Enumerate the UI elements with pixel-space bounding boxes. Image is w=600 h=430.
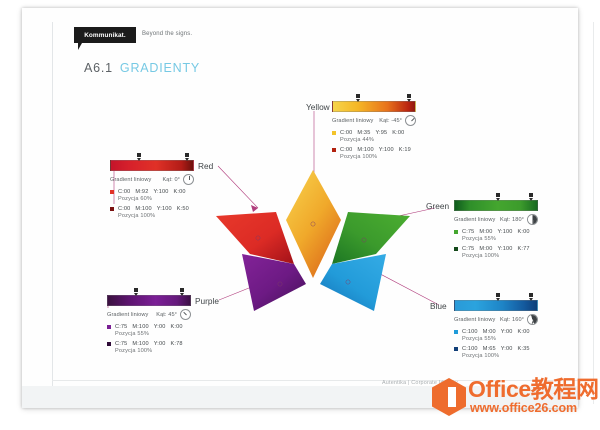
gradient-stop: C:100M:65Y:00K:35 Pozycja 100% xyxy=(454,346,538,359)
stop-chip xyxy=(107,325,111,329)
stop-cmyk: C:100M:65Y:00K:35 xyxy=(462,346,535,352)
stop-cmyk: C:00M:92Y:100K:00 xyxy=(118,189,191,195)
stop-cmyk: C:75M:100Y:00K:78 xyxy=(115,341,188,347)
gradient-panel-purple[interactable]: Purple Gradient liniowy Kąt: 45° C:75M:1… xyxy=(107,295,191,354)
gradient-angle-label: Kąt: -45° xyxy=(379,118,402,124)
panel-label-yellow: Yellow xyxy=(306,102,330,112)
gradient-stop: C:75M:100Y:00K:00 Pozycja 55% xyxy=(107,324,191,337)
watermark-title: Office教程网 xyxy=(468,376,599,402)
angle-dial-icon xyxy=(180,309,191,320)
stop-chip xyxy=(332,148,336,152)
panel-meta-purple: Gradient liniowy Kąt: 45° xyxy=(107,309,191,320)
stop-chip xyxy=(110,207,114,211)
panel-meta-red: Gradient liniowy Kąt: 0° xyxy=(110,174,194,185)
stop-cmyk: C:00M:35Y:95K:00 xyxy=(340,130,409,136)
watermark-title-main: Office xyxy=(468,376,531,402)
stop-chip xyxy=(332,131,336,135)
gradient-stop: C:00M:100Y:100K:50 Pozycja 100% xyxy=(110,206,194,219)
stop-cmyk: C:00M:100Y:100K:19 xyxy=(340,147,416,153)
gradient-stop: C:75M:00Y:100K:00 Pozycja 55% xyxy=(454,229,538,242)
gradient-type-label: Gradient liniowy xyxy=(110,177,151,183)
stop-position: Pozycja 55% xyxy=(462,236,538,242)
panel-label-green: Green xyxy=(426,201,449,211)
gradient-stop: C:00M:100Y:100K:19 Pozycja 100% xyxy=(332,147,416,160)
watermark-url: www.office26.com xyxy=(470,401,577,415)
gradient-type-label: Gradient liniowy xyxy=(332,118,373,124)
angle-dial-icon xyxy=(405,115,416,126)
stop-cmyk: C:75M:00Y:100K:00 xyxy=(462,229,535,235)
gradient-type-label: Gradient liniowy xyxy=(107,312,148,318)
gradient-angle-label: Kąt: 0° xyxy=(162,177,180,183)
gradient-stop: C:00M:35Y:95K:00 Pozycja 44% xyxy=(332,130,416,143)
watermark: Office教程网 www.office26.com xyxy=(430,372,600,418)
gradient-bar-blue xyxy=(454,300,538,311)
panel-meta-blue: Gradient liniowy Kąt: 160° xyxy=(454,314,538,325)
panel-label-blue: Blue xyxy=(430,301,447,311)
stop-cmyk: C:100M:00Y:00K:00 xyxy=(462,329,535,335)
gradient-stop: C:75M:100Y:00K:78 Pozycja 100% xyxy=(107,341,191,354)
stop-chip xyxy=(454,347,458,351)
gradient-stop: C:00M:92Y:100K:00 Pozycja 60% xyxy=(110,189,194,202)
gradient-type-label: Gradient liniowy xyxy=(454,317,495,323)
stop-chip xyxy=(110,190,114,194)
gradient-bar-yellow xyxy=(332,101,416,112)
gradient-bar-red xyxy=(110,160,194,171)
stop-position: Pozycja 55% xyxy=(115,331,191,337)
stop-position: Pozycja 60% xyxy=(118,196,194,202)
document-page: Kommunikat. Beyond the signs. A6.1GRADIE… xyxy=(22,8,578,408)
stop-cmyk: C:00M:100Y:100K:50 xyxy=(118,206,194,212)
gradient-bar-green xyxy=(454,200,538,211)
gradient-panel-blue[interactable]: Blue Gradient liniowy Kąt: 160° C:100M:0… xyxy=(454,300,538,359)
panel-stops-red: C:00M:92Y:100K:00 Pozycja 60% C:00M:100Y… xyxy=(110,189,194,219)
gradient-stop: C:75M:00Y:100K:77 Pozycja 100% xyxy=(454,246,538,259)
panel-stops-blue: C:100M:00Y:00K:00 Pozycja 55% C:100M:65Y… xyxy=(454,329,538,359)
panel-label-purple: Purple xyxy=(195,296,219,306)
gradient-stop: C:100M:00Y:00K:00 Pozycja 55% xyxy=(454,329,538,342)
stop-position: Pozycja 100% xyxy=(115,348,191,354)
stop-chip xyxy=(454,230,458,234)
panel-meta-yellow: Gradient liniowy Kąt: -45° xyxy=(332,115,416,126)
gradient-panel-red[interactable]: Red Gradient liniowy Kąt: 0° C:00M:92Y:1… xyxy=(110,160,194,219)
stop-chip xyxy=(454,330,458,334)
panel-stops-yellow: C:00M:35Y:95K:00 Pozycja 44% C:00M:100Y:… xyxy=(332,130,416,160)
angle-dial-icon xyxy=(527,314,538,325)
gradient-panel-green[interactable]: Green Gradient liniowy Kąt: 180° C:75M:0… xyxy=(454,200,538,259)
stop-position: Pozycja 100% xyxy=(462,353,538,359)
stop-cmyk: C:75M:100Y:00K:00 xyxy=(115,324,188,330)
gradient-angle-label: Kąt: 45° xyxy=(156,312,177,318)
gradient-angle-label: Kąt: 160° xyxy=(500,317,524,323)
angle-dial-icon xyxy=(527,214,538,225)
stop-position: Pozycja 44% xyxy=(340,137,416,143)
panel-label-red: Red xyxy=(198,161,213,171)
gradient-star-graphic xyxy=(198,168,428,313)
gradient-angle-label: Kąt: 180° xyxy=(500,217,524,223)
angle-dial-icon xyxy=(183,174,194,185)
stop-position: Pozycja 55% xyxy=(462,336,538,342)
stop-cmyk: C:75M:00Y:100K:77 xyxy=(462,246,535,252)
gradient-panel-yellow[interactable]: Yellow Gradient liniowy Kąt: -45° C:00M:… xyxy=(332,101,416,160)
panel-stops-purple: C:75M:100Y:00K:00 Pozycja 55% C:75M:100Y… xyxy=(107,324,191,354)
panel-meta-green: Gradient liniowy Kąt: 180° xyxy=(454,214,538,225)
gradient-type-label: Gradient liniowy xyxy=(454,217,495,223)
panel-stops-green: C:75M:00Y:100K:00 Pozycja 55% C:75M:00Y:… xyxy=(454,229,538,259)
stop-position: Pozycja 100% xyxy=(340,154,416,160)
stop-chip xyxy=(107,342,111,346)
gradient-bar-purple xyxy=(107,295,191,306)
office-logo-icon xyxy=(432,378,466,416)
stop-position: Pozycja 100% xyxy=(118,213,194,219)
screenshot-frame: Kommunikat. Beyond the signs. A6.1GRADIE… xyxy=(0,0,600,422)
stop-chip xyxy=(454,247,458,251)
stop-position: Pozycja 100% xyxy=(462,253,538,259)
watermark-title-cjk: 教程网 xyxy=(531,376,599,402)
